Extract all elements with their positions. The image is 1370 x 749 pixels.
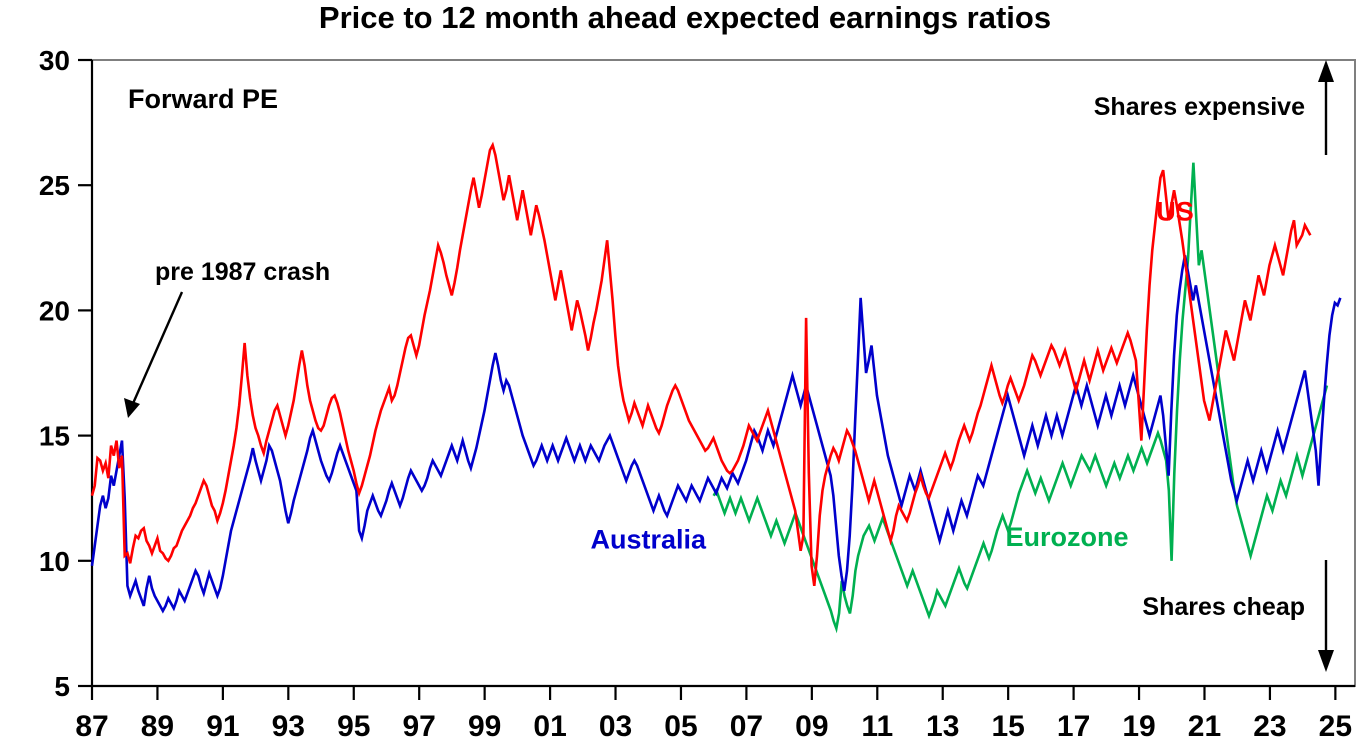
x-tick-label: 87 (75, 710, 108, 743)
down-arrow-icon (1318, 560, 1334, 672)
series-line-us (92, 145, 1310, 586)
x-tick-label: 91 (206, 710, 239, 743)
x-tick-label: 09 (795, 710, 828, 743)
x-tick-label: 19 (1122, 710, 1155, 743)
page-title: Price to 12 month ahead expected earning… (319, 0, 1051, 35)
series-label-eurozone: Eurozone (1006, 522, 1129, 552)
pre-1987-crash-arrow-icon (124, 292, 182, 418)
annotation-pre-1987-crash: pre 1987 crash (155, 258, 330, 286)
x-axis-ticks (92, 686, 1335, 700)
x-tick-label: 17 (1057, 710, 1090, 743)
x-tick-label: 97 (403, 710, 436, 743)
x-tick-label: 95 (337, 710, 370, 743)
y-tick-label: 15 (39, 421, 70, 452)
x-tick-label: 89 (141, 710, 174, 743)
x-tick-label: 93 (272, 710, 305, 743)
y-tick-label: 20 (39, 295, 70, 326)
annotation-shares-expensive: Shares expensive (1094, 93, 1305, 121)
y-axis-tick-labels: 30252015105 (39, 45, 70, 702)
x-tick-label: 15 (991, 710, 1024, 743)
x-tick-label: 07 (730, 710, 763, 743)
x-tick-label: 03 (599, 710, 632, 743)
chart-container: Price to 12 month ahead expected earning… (0, 0, 1370, 749)
x-tick-label: 01 (533, 710, 566, 743)
x-tick-label: 23 (1253, 710, 1286, 743)
price-to-earnings-chart: Price to 12 month ahead expected earning… (0, 0, 1370, 749)
y-tick-label: 30 (39, 45, 70, 76)
y-tick-label: 10 (39, 546, 70, 577)
y-axis-ticks (78, 60, 92, 686)
y-tick-label: 25 (39, 170, 70, 201)
y-tick-label: 5 (54, 671, 70, 702)
up-arrow-icon (1318, 60, 1334, 155)
x-tick-label: 13 (926, 710, 959, 743)
x-tick-label: 25 (1319, 710, 1352, 743)
forward-pe-note: Forward PE (128, 84, 278, 114)
annotation-shares-cheap: Shares cheap (1142, 593, 1305, 621)
series-label-australia: Australia (590, 524, 707, 554)
series-label-us: US (1156, 196, 1194, 226)
x-tick-label: 21 (1188, 710, 1221, 743)
x-axis-tick-labels: 8789919395979901030507091113151719212325 (75, 710, 1352, 743)
x-tick-label: 05 (664, 710, 697, 743)
series-line-australia (92, 255, 1340, 611)
x-tick-label: 99 (468, 710, 501, 743)
x-tick-label: 11 (861, 710, 893, 743)
